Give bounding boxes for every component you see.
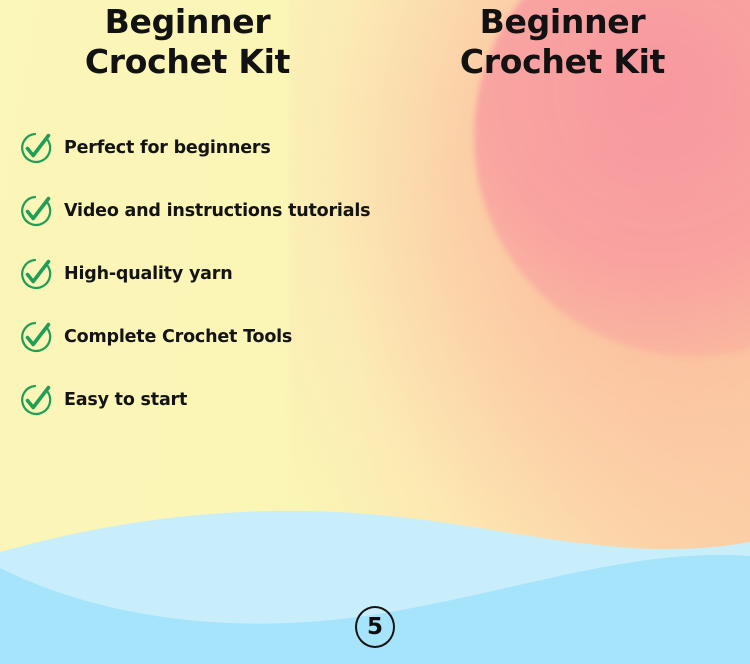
comparison-columns: Perfect for beginners Video and instruct… [0,116,750,431]
list-item: High-quality yarn [16,242,375,305]
check-circle-icon [16,129,54,167]
cross-circle-icon [746,255,750,293]
cross-circle-icon [746,381,750,419]
list-item: Video and instructions tutorials [16,179,375,242]
list-item: Perfect for beginners [16,116,375,179]
pros-column: Perfect for beginners Video and instruct… [0,116,375,431]
check-circle-icon [16,255,54,293]
left-heading: Beginner Crochet Kit [0,0,375,104]
list-item-label: High-quality yarn [64,264,232,284]
right-heading-line-1: Beginner [480,2,646,42]
cross-circle-icon [746,129,750,167]
cross-circle-icon [746,192,750,230]
list-item: Easy to start [16,368,375,431]
page-number-badge: 5 [355,606,395,648]
right-heading: Beginner Crochet Kit [375,0,750,104]
list-item: Yarn is easily damaged [746,242,750,305]
infographic-page: Beginner Crochet Kit Beginner Crochet Ki… [0,0,750,664]
list-item-label: Complete Crochet Tools [64,327,292,347]
left-heading-line-1: Beginner [105,2,271,42]
page-number: 5 [355,606,395,648]
list-item: Basic crocheting experience required [746,116,750,179]
list-item-label: Perfect for beginners [64,138,271,158]
list-item: Printing instructions [746,179,750,242]
check-circle-icon [16,318,54,356]
cross-circle-icon [746,318,750,356]
check-circle-icon [16,381,54,419]
list-item-label: Video and instructions tutorials [64,201,370,221]
left-heading-line-2: Crochet Kit [85,42,290,82]
list-item: Complete Crochet Tools [16,305,375,368]
list-item: Intricate Crochet Tools [746,305,750,368]
list-item-label: Easy to start [64,390,187,410]
list-item: it s hard to start on your own [746,368,750,431]
right-heading-line-2: Crochet Kit [460,42,665,82]
cons-column: Basic crocheting experience required Pri… [375,116,750,431]
check-circle-icon [16,192,54,230]
headings-row: Beginner Crochet Kit Beginner Crochet Ki… [0,0,750,104]
